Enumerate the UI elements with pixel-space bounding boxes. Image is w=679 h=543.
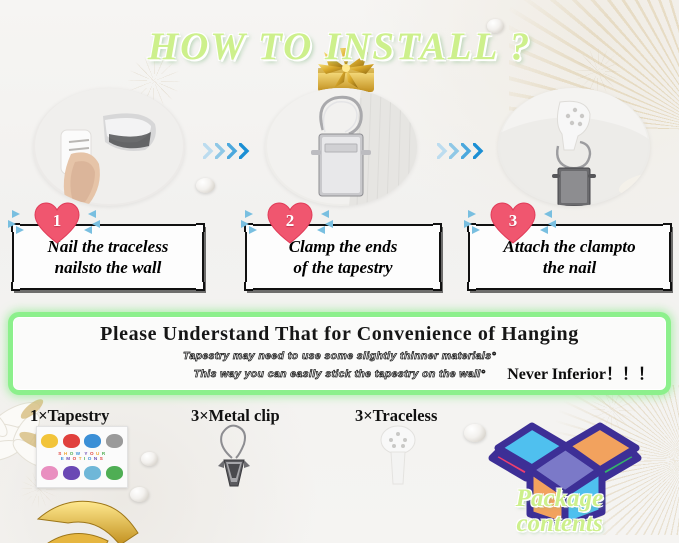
chevron-right-icon (449, 143, 460, 159)
step-badge-number: 2 (286, 211, 295, 231)
step-card-1: Nail the traceless nailsto the wall 1 (12, 224, 204, 290)
chevron-right-icon (473, 143, 484, 159)
corner-notch (433, 223, 442, 232)
step-arrow-1 (203, 140, 261, 162)
step-photo-3 (498, 88, 650, 206)
corner-notch (433, 282, 442, 291)
emotion-row-bottom (39, 463, 125, 484)
chevron-right-icon (227, 143, 238, 159)
emotion-face (84, 434, 101, 448)
traceless-nail-photo (378, 424, 418, 488)
package-item-label-metal-clip: 3×Metal clip (191, 406, 280, 426)
emotion-face (63, 466, 80, 480)
tapestry-thumbnail: SHOW YOUR EMOTIONS (36, 426, 128, 488)
package-contents-banner: Package contents (452, 486, 667, 536)
chevron-right-icon (461, 143, 472, 159)
emotion-face (106, 434, 123, 448)
chevron-right-icon (203, 143, 214, 159)
step-card-2: Clamp the ends of the tapestry 2 (245, 224, 441, 290)
never-inferior-label: Never Inferior！！！ (507, 360, 654, 384)
step-photo-1 (33, 88, 185, 206)
step-photo-2 (265, 88, 417, 206)
corner-notch (663, 282, 672, 291)
package-item-label-tapestry: 1×Tapestry (30, 406, 109, 426)
step-badge-2: 2 (267, 202, 313, 244)
step-text-line2: nailsto the wall (55, 259, 162, 277)
metal-clip-photo (210, 424, 258, 496)
step-badge-1: 1 (34, 202, 80, 244)
package-banner-line1: Package (452, 486, 667, 511)
step-arrow-2 (437, 140, 495, 162)
emotion-face (106, 466, 123, 480)
corner-notch (244, 282, 253, 291)
corner-notch (196, 223, 205, 232)
water-droplet-icon (464, 204, 490, 234)
water-droplet-icon (8, 204, 34, 234)
gold-ribbon-ornament (28, 489, 148, 543)
step-text-line2: of the tapestry (293, 259, 392, 277)
step-text-line2: the nail (543, 259, 596, 277)
emotion-face (63, 434, 80, 448)
package-item-label-traceless: 3×Traceless (355, 406, 437, 426)
corner-notch (196, 282, 205, 291)
step-card-3: Attach the clampto the nail 3 (468, 224, 671, 290)
page-title: HOW TO INSTALL ? (0, 24, 679, 69)
notice-heading: Please Understand That for Convenience o… (13, 323, 666, 346)
corner-notch (11, 282, 20, 291)
chevron-right-icon (437, 143, 448, 159)
step-badge-3: 3 (490, 202, 536, 244)
water-droplet-icon (241, 204, 267, 234)
emotion-face (41, 434, 58, 448)
pearl-decoration (196, 178, 215, 193)
package-banner-line2: contents (452, 511, 667, 536)
notice-panel: Please Understand That for Convenience o… (8, 312, 671, 395)
step-badge-number: 1 (53, 211, 62, 231)
install-instructions-page: HOW TO INSTALL ? (0, 0, 679, 543)
emotion-face (84, 466, 101, 480)
chevron-right-icon (215, 143, 226, 159)
corner-notch (663, 223, 672, 232)
corner-notch (467, 282, 476, 291)
step-badge-number: 3 (509, 211, 518, 231)
emotion-row-top (39, 430, 125, 451)
tapestry-caption: SHOW YOUR EMOTIONS (39, 452, 125, 461)
pearl-decoration (141, 452, 158, 466)
chevron-right-icon (239, 143, 250, 159)
emotion-face (41, 466, 58, 480)
pearl-decoration (130, 487, 149, 502)
